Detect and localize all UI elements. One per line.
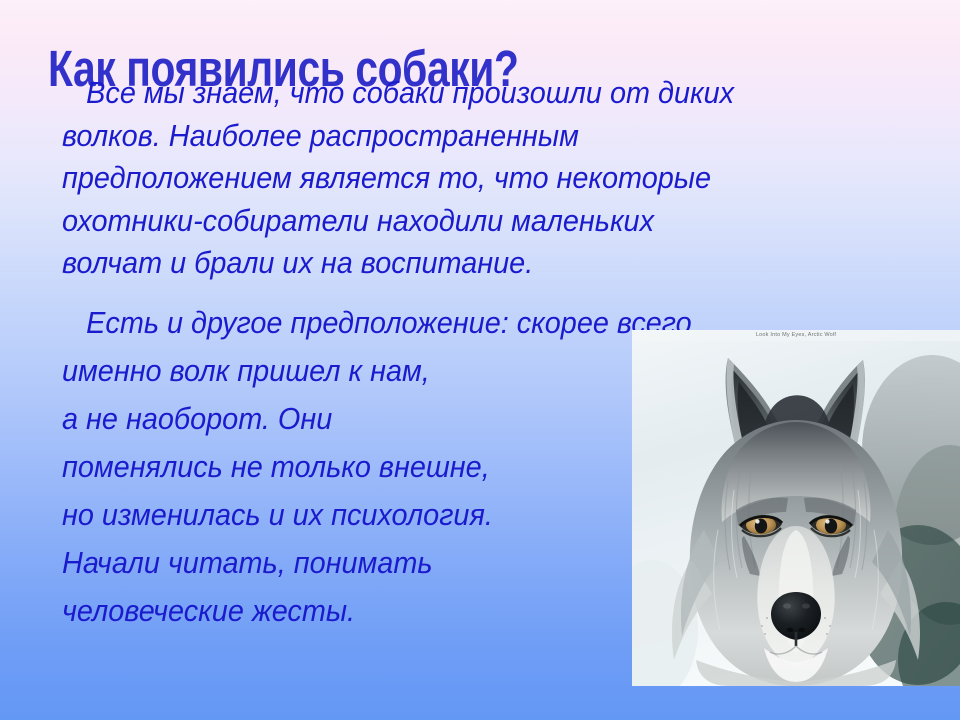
paragraph-1-line-4: охотники-собиратели находили маленьких xyxy=(62,200,890,243)
slide-canvas: Как появились собаки? Все мы знаем, что … xyxy=(0,0,960,720)
photo-caption: Look Into My Eyes, Arctic Wolf xyxy=(632,331,960,339)
paragraph-1-line-2: волков. Наиболее распространенным xyxy=(62,115,890,158)
paragraph-1-line-5: волчат и брали их на воспитание. xyxy=(62,242,890,285)
wolf-photo-artwork xyxy=(632,330,960,686)
paragraph-1-line-3: предположением является то, что некоторы… xyxy=(62,157,890,200)
paragraph-1: Все мы знаем, что собаки произошли от ди… xyxy=(62,72,890,285)
paragraph-1-line-1: Все мы знаем, что собаки произошли от ди… xyxy=(62,72,890,115)
wolf-photo: Look Into My Eyes, Arctic Wolf xyxy=(632,330,960,686)
